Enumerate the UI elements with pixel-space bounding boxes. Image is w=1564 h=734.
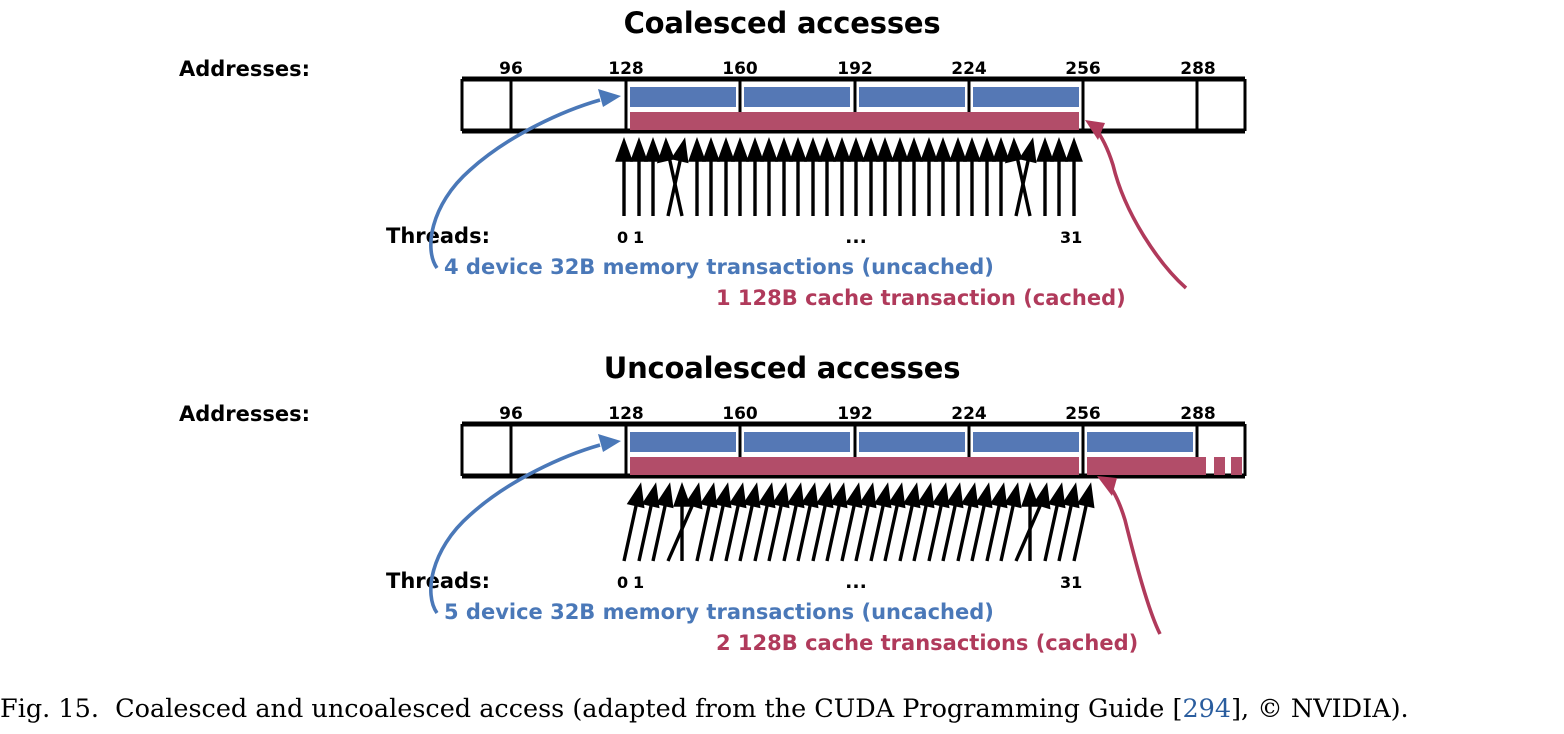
- blue-callout-arrow-bottom: [431, 434, 621, 613]
- uncoalesced-graphic: [0, 0, 1564, 700]
- caption-prefix: Fig. 15.: [0, 694, 99, 724]
- figure-caption: Fig. 15. Coalesced and uncoalesced acces…: [0, 694, 1564, 724]
- thread-arrows-bottom: [624, 487, 1093, 561]
- caption-text-2: ], © NVIDIA).: [1231, 694, 1409, 724]
- red-callout-arrow-bottom: [1097, 476, 1160, 634]
- blue-segment-blocks-bottom: [630, 432, 1193, 452]
- red-cacheline-bar-bottom: [630, 457, 1242, 475]
- figure-root: Coalesced accesses Addresses: 96 128 160…: [0, 0, 1564, 734]
- caption-citation-link[interactable]: 294: [1182, 694, 1231, 724]
- caption-text-1: Coalesced and uncoalesced access (adapte…: [115, 694, 1182, 724]
